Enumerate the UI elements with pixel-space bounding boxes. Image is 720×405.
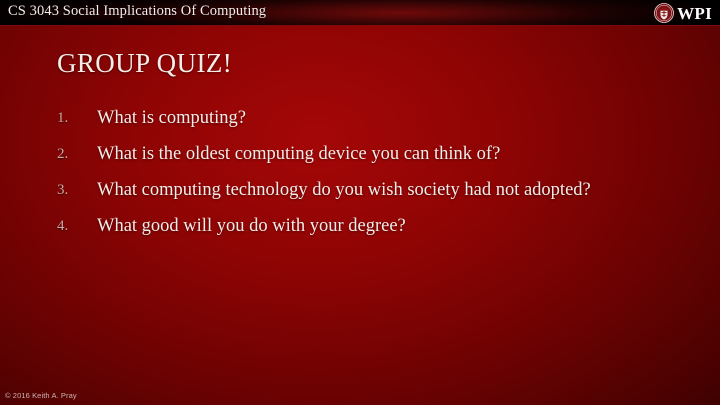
presentation-slide: CS 3043 Social Implications Of Computing…: [0, 0, 720, 405]
list-item-text: What computing technology do you wish so…: [97, 178, 657, 202]
wpi-wordmark: WPI: [677, 5, 712, 22]
list-item: 1. What is computing?: [57, 106, 657, 130]
list-item-text: What is computing?: [97, 106, 657, 130]
list-item: 4. What good will you do with your degre…: [57, 214, 657, 238]
list-item-text: What is the oldest computing device you …: [97, 142, 657, 166]
list-item: 3. What computing technology do you wish…: [57, 178, 657, 202]
list-item-text: What good will you do with your degree?: [97, 214, 657, 238]
question-list: 1. What is computing? 2. What is the old…: [57, 106, 657, 250]
list-item-number: 3.: [57, 178, 97, 202]
slide-title: GROUP QUIZ!: [57, 48, 232, 79]
list-item-number: 2.: [57, 142, 97, 166]
list-item-number: 4.: [57, 214, 97, 238]
copyright-notice: © 2016 Keith A. Pray: [5, 391, 77, 400]
wpi-logo: WPI: [654, 1, 712, 25]
course-title: CS 3043 Social Implications Of Computing: [8, 3, 266, 20]
list-item: 2. What is the oldest computing device y…: [57, 142, 657, 166]
list-item-number: 1.: [57, 106, 97, 130]
slide-header-bar: CS 3043 Social Implications Of Computing…: [0, 0, 720, 26]
wpi-seal-icon: [654, 3, 674, 23]
